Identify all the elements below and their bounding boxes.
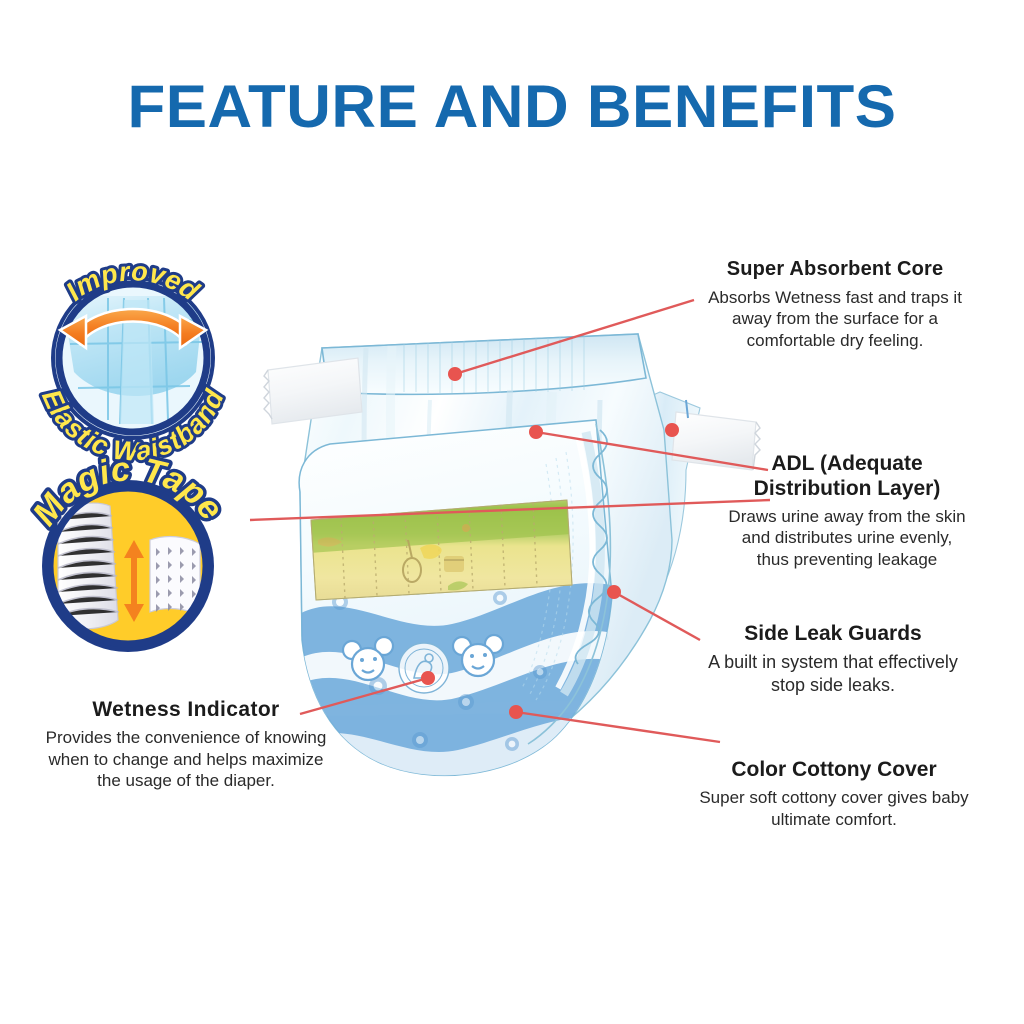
callout-super-absorbent-core: Super Absorbent Core Absorbs Wetness fas… [672, 258, 998, 352]
dot-core [448, 367, 462, 381]
dot-wetness [421, 671, 435, 685]
brand-seal-logo [399, 643, 449, 693]
callout-wetness-indicator: Wetness Indicator Provides the convenien… [14, 698, 358, 792]
dot-adl-mid [665, 423, 679, 437]
drum-motif [444, 556, 464, 572]
badge1-ring [51, 276, 215, 440]
leader-line-cover [516, 712, 720, 742]
callout-body: Provides the convenience of knowing when… [14, 727, 358, 792]
badge-improved-elastic-waistband: Improved Elastic Waistband [36, 256, 230, 467]
side-leak-guard [522, 424, 610, 744]
badge2-top-text: Magic Tape [25, 450, 230, 533]
callout-title: Wetness Indicator [14, 698, 358, 723]
badge-magic-tape: Magic Tape [25, 450, 230, 652]
badge1-bottom-text: Elastic Waistband [36, 385, 230, 467]
leader-line-core [455, 300, 694, 374]
plastic-sheen [364, 346, 606, 650]
page-title: FEATURE AND BENEFITS [0, 72, 1024, 141]
dot-adl-upper [529, 425, 543, 439]
tape-tab-left [264, 358, 362, 424]
diaper-back-panel [596, 392, 700, 652]
callout-title: Color Cottony Cover [664, 758, 1004, 783]
callout-adl: ADL (Adequate Distribution Layer) Draws … [688, 452, 1006, 571]
diaper-waistband [322, 334, 646, 394]
dot-sideleak [607, 585, 621, 599]
callout-endpoint-dots [421, 367, 679, 719]
teddy-bear-motif-right [453, 635, 503, 676]
badge1-top-text: Improved [60, 256, 204, 306]
infographic-canvas: FEATURE AND BENEFITS [0, 0, 1024, 1024]
badge2-inner-image [58, 503, 200, 629]
flower-motifs [332, 581, 547, 751]
callout-title: ADL (Adequate Distribution Layer) [688, 452, 1006, 502]
double-arrow-icon [60, 309, 206, 348]
vertical-arrow-icon [124, 540, 144, 622]
wetness-indicator-strip [309, 498, 572, 600]
callout-color-cottony-cover: Color Cottony Cover Super soft cottony c… [664, 758, 1004, 830]
badge1-inner-image [51, 276, 215, 440]
callout-body: Absorbs Wetness fast and traps it away f… [672, 287, 998, 352]
tape-hook-icon [686, 400, 688, 418]
guitar-motif [403, 540, 421, 582]
callout-title: Side Leak Guards [668, 622, 998, 647]
hook-loop-texture [156, 547, 196, 612]
callout-body: A built in system that effectively stop … [668, 651, 998, 697]
callout-body: Draws urine away from the skin and distr… [688, 506, 1006, 571]
badge2-ring [42, 480, 214, 652]
callout-title: Super Absorbent Core [672, 258, 998, 282]
callout-side-leak-guards: Side Leak Guards A built in system that … [668, 622, 998, 697]
dot-cover [509, 705, 523, 719]
callout-body: Super soft cottony cover gives baby ulti… [664, 787, 1004, 831]
teddy-bear-motif-left [343, 637, 393, 680]
waistband-elastic-lines [404, 336, 584, 393]
